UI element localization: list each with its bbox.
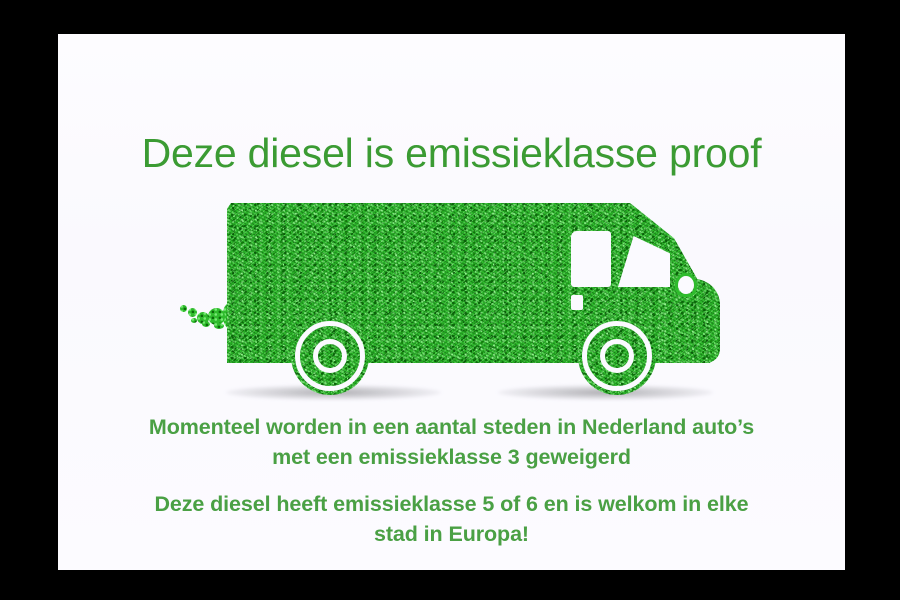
paragraph-1-line-2: met een emissieklasse 3 geweigerd — [58, 442, 845, 472]
van-rear-wheel — [291, 317, 369, 395]
exhaust-puff — [214, 323, 224, 329]
front-hub-ring — [600, 339, 634, 373]
paragraph-2: Deze diesel heeft emissieklasse 5 of 6 e… — [58, 489, 845, 549]
paragraph-1-line-1: Momenteel worden in een aantal steden in… — [58, 412, 845, 442]
paragraph-2-line-2: stad in Europa! — [58, 519, 845, 549]
green-van-illustration — [178, 189, 738, 404]
exhaust-puff — [202, 321, 210, 327]
van-door-handle — [571, 295, 583, 310]
van-cargo-body — [227, 203, 529, 363]
van-side-mirror-glass — [678, 276, 694, 294]
slide-frame: Deze diesel is emissieklasse proof — [0, 0, 900, 600]
slide-canvas: Deze diesel is emissieklasse proof — [58, 34, 845, 570]
exhaust-puff — [180, 305, 187, 312]
paragraph-1: Momenteel worden in een aantal steden in… — [58, 412, 845, 472]
van-side-window — [571, 231, 611, 287]
van-front-wheel — [578, 317, 656, 395]
exhaust-puff — [191, 318, 197, 323]
rear-hub-ring — [313, 339, 347, 373]
page-title: Deze diesel is emissieklasse proof — [58, 130, 845, 177]
exhaust-puff — [188, 308, 197, 317]
body-copy: Momenteel worden in een aantal steden in… — [58, 412, 845, 549]
paragraph-2-line-1: Deze diesel heeft emissieklasse 5 of 6 e… — [58, 489, 845, 519]
